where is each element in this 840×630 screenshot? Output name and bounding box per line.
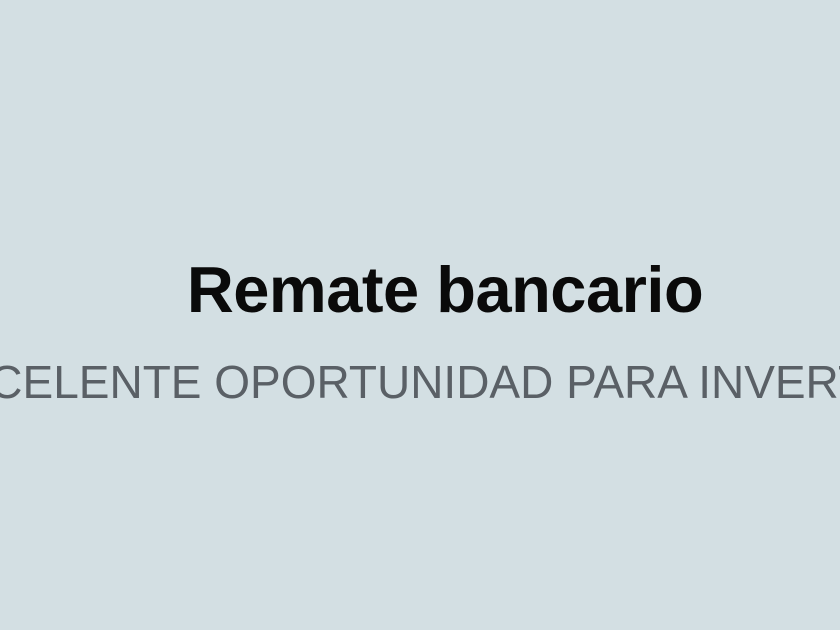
banner-subtitle: EXCELENTE OPORTUNIDAD PARA INVERTIR [0,358,840,406]
banner-subtitle-clip: EXCELENTE OPORTUNIDAD PARA INVERTIR [0,358,840,410]
banner-headline: Remate bancario [0,255,840,325]
banner-text-block: Remate bancario EXCELENTE OPORTUNIDAD PA… [0,0,840,630]
promo-banner: Remate bancario EXCELENTE OPORTUNIDAD PA… [0,0,840,630]
